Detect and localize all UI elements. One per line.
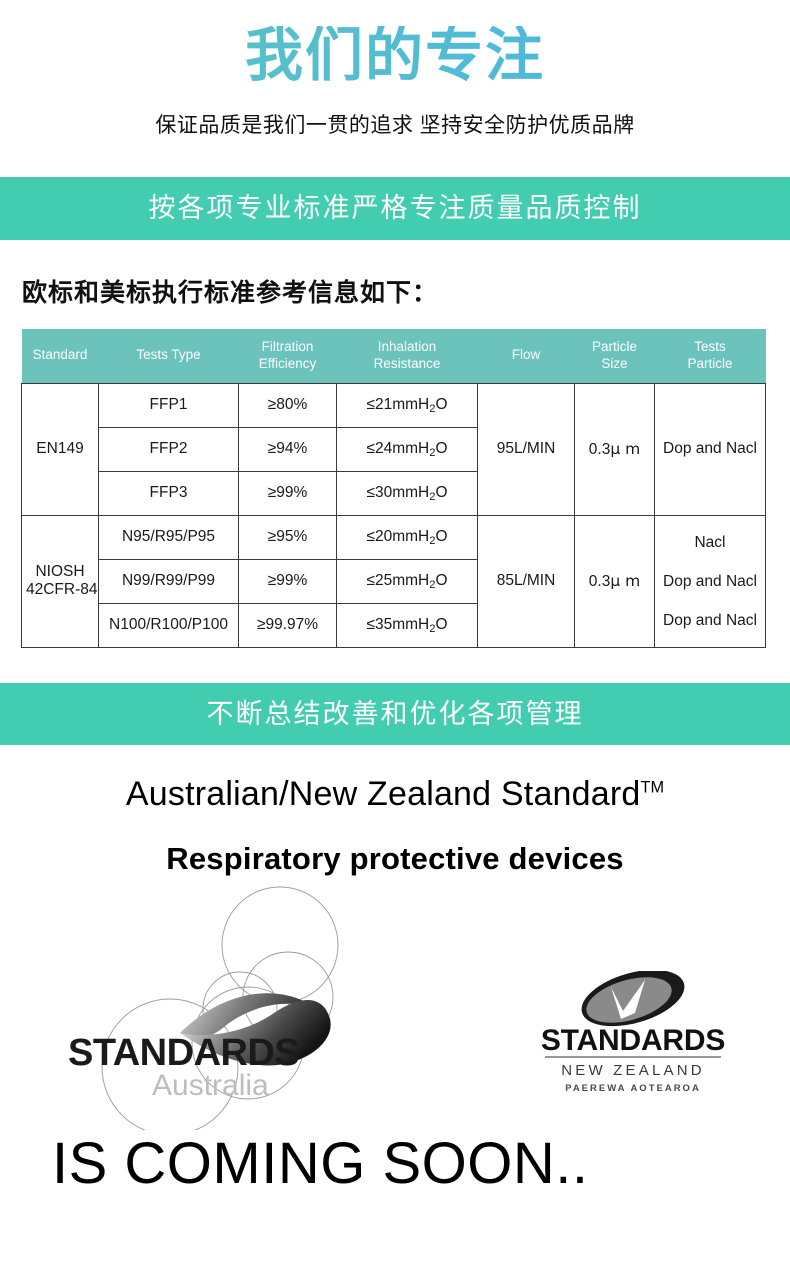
- col-standard: Standard: [22, 329, 99, 383]
- anz-standard-title: Australian/New Zealand StandardTM: [0, 775, 790, 814]
- cell-standard-en149: EN149: [22, 383, 99, 515]
- table-row: EN149 FFP1 ≥80% ≤21mmH2O 95L/MIN 0.3μ m …: [22, 383, 766, 427]
- table-row: NIOSH 42CFR-84 N95/R95/P95 ≥95% ≤20mmH2O…: [22, 515, 766, 559]
- cell-filtration-efficiency: ≥99%: [239, 471, 337, 515]
- anz-standard-block: Australian/New Zealand StandardTM Respir…: [0, 775, 790, 877]
- logo-nz-word-main: STANDARDS: [541, 1024, 725, 1057]
- cell-tests-type: N99/R99/P99: [99, 559, 239, 603]
- logo-au-word-main: STANDARDS: [68, 1032, 299, 1074]
- cell-tests-type: FFP2: [99, 427, 239, 471]
- table-header-row: Standard Tests Type Filtration Efficienc…: [22, 329, 766, 383]
- anz-standard-subtitle: Respiratory protective devices: [0, 841, 790, 877]
- cell-inhalation-resistance: ≤30mmH2O: [337, 471, 478, 515]
- cell-tests-type: N100/R100/P100: [99, 603, 239, 647]
- logos-row: STANDARDS Australia STANDARDS NEW ZEALAN…: [0, 885, 790, 1130]
- cell-inhalation-resistance: ≤35mmH2O: [337, 603, 478, 647]
- cell-filtration-efficiency: ≥94%: [239, 427, 337, 471]
- col-flow: Flow: [478, 329, 575, 383]
- coming-soon-text: IS COMING SOON..: [0, 1134, 790, 1195]
- logo-nz-word-sub: NEW ZEALAND: [561, 1062, 705, 1079]
- banner-quality-control: 按各项专业标准严格专注质量品质控制: [0, 177, 790, 240]
- cell-particle-size: 0.3μ m: [575, 383, 655, 515]
- cell-tests-particle: Dop and Nacl: [655, 383, 766, 515]
- page-title: 我们的专注: [0, 26, 790, 87]
- tests-particle-line: Dop and Nacl: [659, 562, 761, 601]
- cell-tests-type: FFP1: [99, 383, 239, 427]
- page-subtitle: 保证品质是我们一贯的追求 坚持安全防护优质品牌: [0, 109, 790, 139]
- standards-australia-logo: STANDARDS Australia: [52, 885, 362, 1130]
- tests-particle-line: Nacl: [659, 523, 761, 562]
- standards-new-zealand-logo: STANDARDS NEW ZEALAND PAEREWA AOTEAROA: [523, 971, 743, 1096]
- cell-tests-type: FFP3: [99, 471, 239, 515]
- col-inhalation-resistance: Inhalation Resistance: [337, 329, 478, 383]
- logo-au-word-sub: Australia: [152, 1069, 269, 1102]
- cell-inhalation-resistance: ≤25mmH2O: [337, 559, 478, 603]
- col-particle-size: Particle Size: [575, 329, 655, 383]
- cell-filtration-efficiency: ≥99.97%: [239, 603, 337, 647]
- cell-tests-type: N95/R95/P95: [99, 515, 239, 559]
- cell-inhalation-resistance: ≤21mmH2O: [337, 383, 478, 427]
- cell-tests-particle: Nacl Dop and Nacl Dop and Nacl: [655, 515, 766, 647]
- cell-inhalation-resistance: ≤24mmH2O: [337, 427, 478, 471]
- hero-section: 我们的专注 保证品质是我们一贯的追求 坚持安全防护优质品牌: [0, 0, 790, 139]
- section-heading-standards: 欧标和美标执行标准参考信息如下：: [22, 273, 790, 309]
- cell-filtration-efficiency: ≥95%: [239, 515, 337, 559]
- col-tests-type: Tests Type: [99, 329, 239, 383]
- banner-continuous-improvement: 不断总结改善和优化各项管理: [0, 683, 790, 745]
- standards-table: Standard Tests Type Filtration Efficienc…: [21, 329, 766, 648]
- cell-flow: 95L/MIN: [478, 383, 575, 515]
- cell-flow: 85L/MIN: [478, 515, 575, 647]
- tests-particle-line: Dop and Nacl: [659, 601, 761, 640]
- cell-filtration-efficiency: ≥99%: [239, 559, 337, 603]
- trademark-mark: TM: [641, 778, 665, 796]
- standards-table-wrapper: Standard Tests Type Filtration Efficienc…: [21, 329, 765, 648]
- cell-particle-size: 0.3μ m: [575, 515, 655, 647]
- cell-inhalation-resistance: ≤20mmH2O: [337, 515, 478, 559]
- cell-standard-niosh: NIOSH 42CFR-84: [22, 515, 99, 647]
- logo-nz-word-sub2: PAEREWA AOTEAROA: [565, 1083, 701, 1094]
- cell-filtration-efficiency: ≥80%: [239, 383, 337, 427]
- col-filtration-efficiency: Filtration Efficiency: [239, 329, 337, 383]
- col-tests-particle: Tests Particle: [655, 329, 766, 383]
